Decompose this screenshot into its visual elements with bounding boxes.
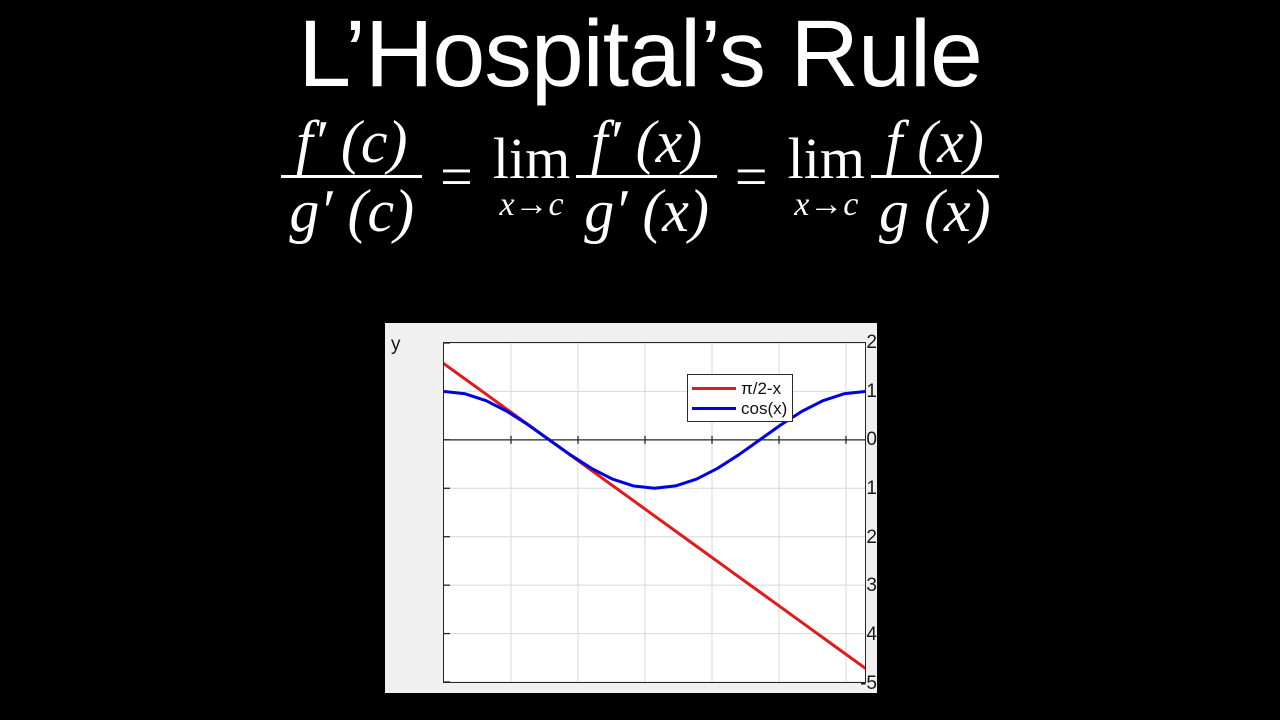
- y-axis-label: y: [391, 335, 401, 354]
- limit-subscript: x→c: [794, 188, 858, 222]
- formula-limit-1-fraction: f′ (x) g′ (x): [576, 112, 717, 241]
- legend-label: π/2-x: [741, 380, 781, 397]
- legend-color-swatch-line: [692, 387, 736, 390]
- formula-limit-2-denominator: g (x): [871, 178, 999, 241]
- formula-lhs-numerator: f′ (c): [288, 112, 415, 175]
- limit-subscript: x→c: [499, 188, 563, 222]
- formula-limit-1-numerator: f′ (x): [583, 112, 710, 175]
- formula-lhs-denominator: g′ (c): [281, 178, 422, 241]
- limit-op-label: lim: [788, 131, 865, 186]
- plot-area: π/2-x cos(x): [443, 342, 866, 683]
- plot-legend[interactable]: π/2-x cos(x): [687, 374, 793, 422]
- plot-svg: [444, 343, 865, 682]
- legend-label: cos(x): [741, 400, 787, 417]
- formula-limit-1-operator: lim x→c: [493, 131, 570, 222]
- lhospital-formula: f′ (c) g′ (c) = lim x→c f′ (x) g′ (x) = …: [0, 112, 1280, 241]
- plot-figure: y 2 1 0 -1 -2 -3 -4 -5 1 2 3 4 5 6 x: [385, 323, 877, 693]
- legend-entry: cos(x): [692, 398, 787, 418]
- data-curves: [444, 364, 865, 668]
- slide-canvas: L’Hospital’s Rule f′ (c) g′ (c) = lim x→…: [0, 0, 1280, 720]
- formula-limit-2-numerator: f (x): [878, 112, 992, 175]
- formula-limit-2-fraction: f (x) g (x): [871, 112, 999, 241]
- legend-color-swatch-line: [692, 407, 736, 410]
- grid-lines: [444, 343, 865, 682]
- formula-limit-1-denominator: g′ (x): [576, 178, 717, 241]
- page-title: L’Hospital’s Rule: [0, 2, 1280, 106]
- formula-limit-2-operator: lim x→c: [788, 131, 865, 222]
- formula-equals-2: =: [735, 148, 768, 206]
- formula-equals-1: =: [440, 148, 473, 206]
- limit-op-label: lim: [493, 131, 570, 186]
- legend-entry: π/2-x: [692, 378, 787, 398]
- formula-lhs-fraction: f′ (c) g′ (c): [281, 112, 422, 241]
